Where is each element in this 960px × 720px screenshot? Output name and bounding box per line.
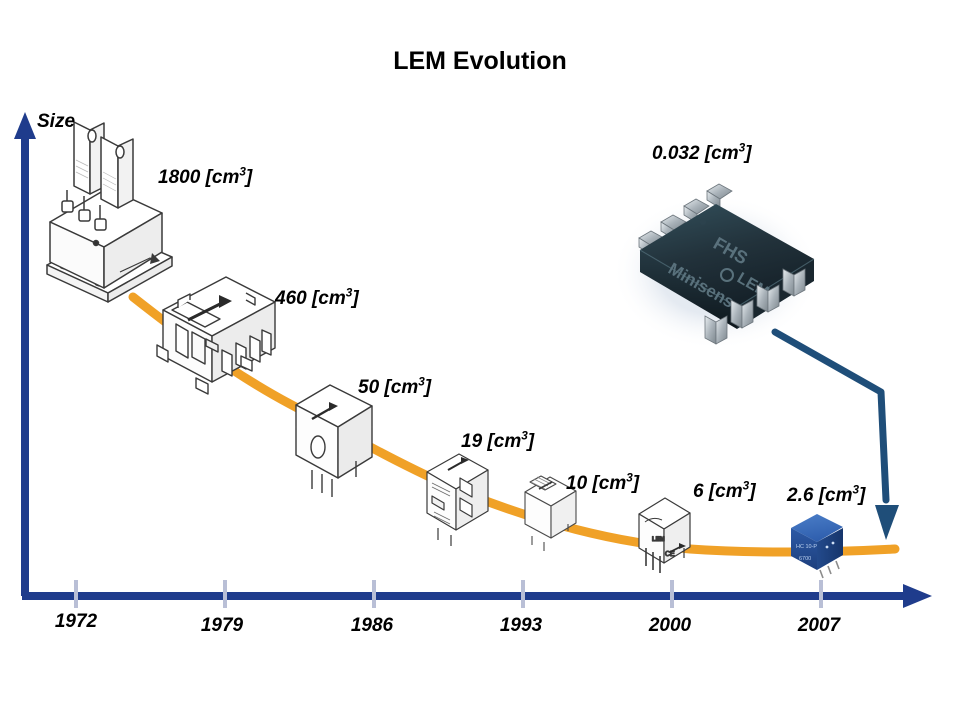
svg-text:6700: 6700 bbox=[799, 556, 811, 562]
size-label-460: 460 [cm3] bbox=[275, 288, 359, 310]
size-label-0-032: 0.032 [cm3] bbox=[652, 143, 752, 165]
x-tick-label-1972: 1972 bbox=[41, 611, 111, 633]
size-label-1800: 1800 [cm3] bbox=[158, 167, 252, 189]
size-label-2-6: 2.6 [cm3] bbox=[787, 485, 865, 507]
product-drawing-6: LEM CE bbox=[639, 498, 690, 573]
blue-module-marking: HC 10-P bbox=[796, 544, 817, 550]
product-photo-minisens-chip: FHS Minisens LEM bbox=[612, 184, 820, 350]
size-label-6: 6 [cm3] bbox=[693, 481, 756, 503]
slide-canvas: LEM Evolution bbox=[0, 0, 960, 720]
size-label-10: 10 [cm3] bbox=[566, 473, 639, 495]
y-axis bbox=[14, 112, 36, 596]
callout-arrow-chip bbox=[775, 332, 899, 540]
x-tick-label-1979: 1979 bbox=[187, 615, 257, 637]
y-axis-label: Size bbox=[37, 111, 75, 133]
x-tick-label-1986: 1986 bbox=[337, 615, 407, 637]
size-label-50: 50 [cm3] bbox=[358, 377, 431, 399]
product-drawing-50 bbox=[296, 385, 372, 497]
product-drawing-2-6: HC 10-P 6700 bbox=[791, 514, 843, 578]
svg-text:LEM: LEM bbox=[652, 537, 665, 543]
x-tick-label-1993: 1993 bbox=[486, 615, 556, 637]
product-drawing-460 bbox=[157, 277, 275, 394]
x-tick-label-2007: 2007 bbox=[784, 615, 854, 637]
diagram-vector-layer: LEM CE HC 10-P 6700 bbox=[0, 0, 960, 720]
product-drawing-19 bbox=[427, 454, 488, 546]
x-axis bbox=[22, 580, 932, 608]
size-label-19: 19 [cm3] bbox=[461, 431, 534, 453]
product-drawing-1800 bbox=[47, 122, 172, 302]
x-tick-label-2000: 2000 bbox=[635, 615, 705, 637]
